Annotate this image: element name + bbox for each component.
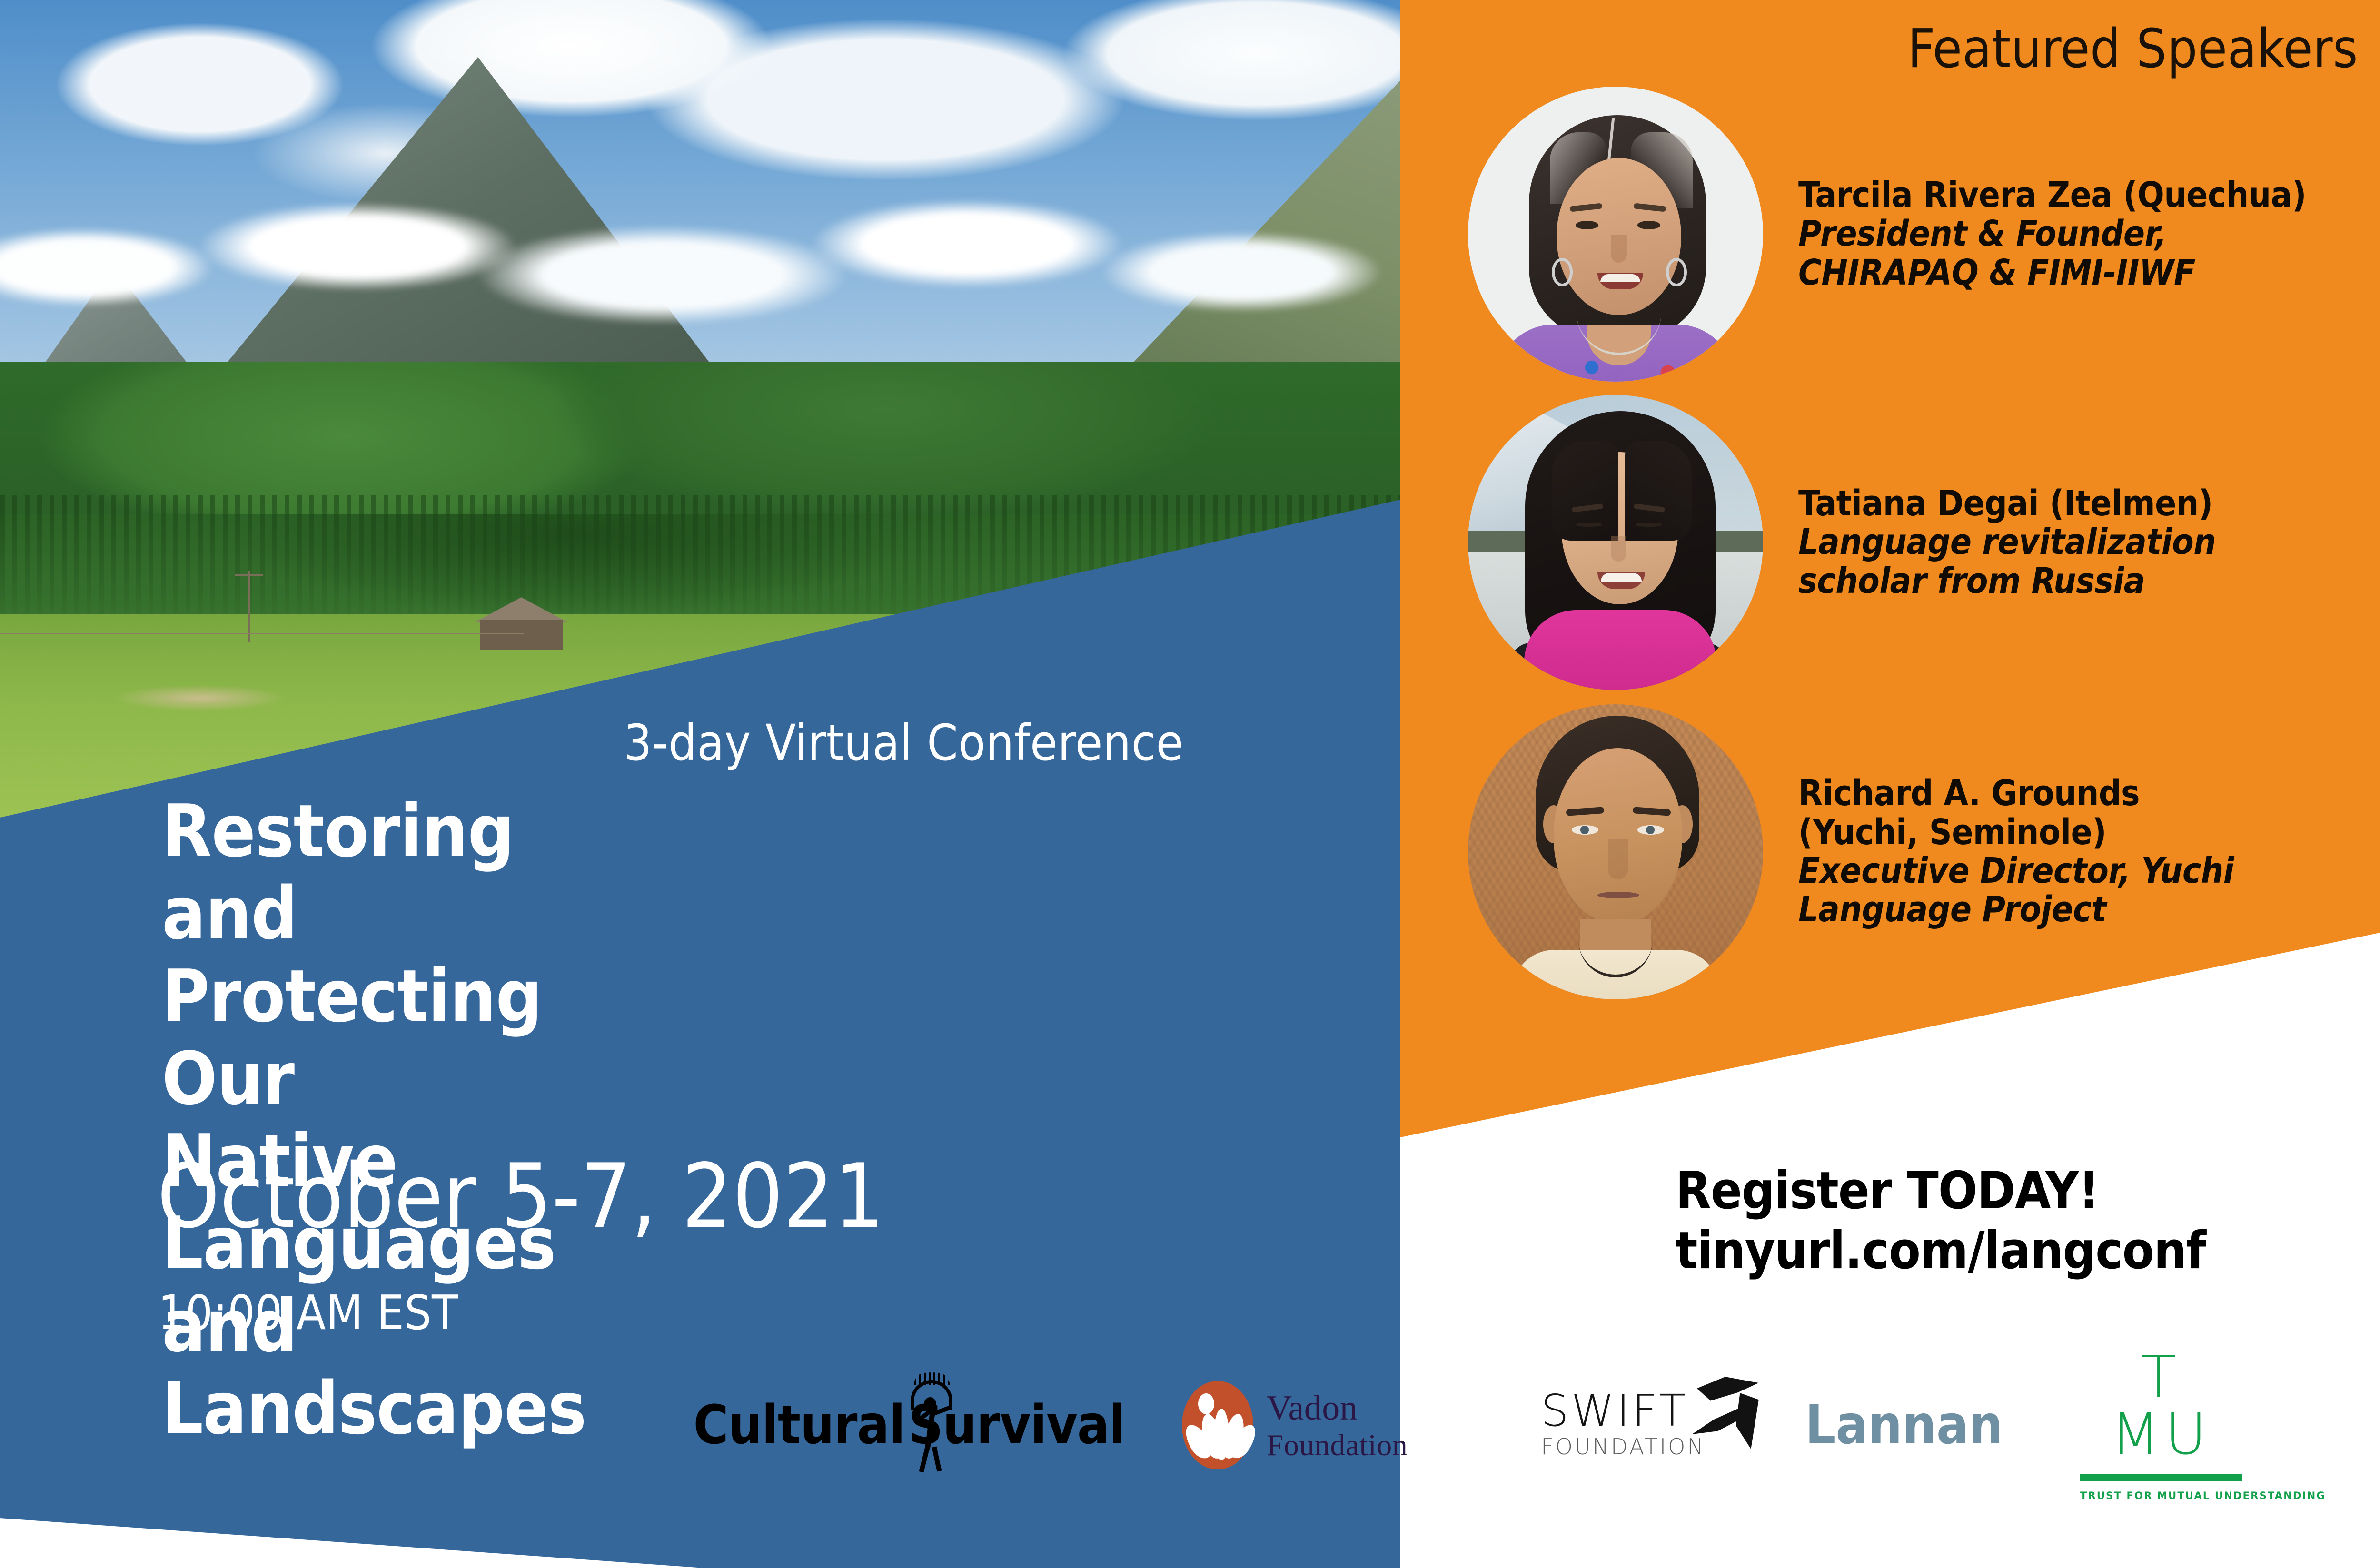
logo-cultural-survival: Cultural Survival xyxy=(704,1363,1114,1487)
register-url[interactable]: tinyurl.com/langconf xyxy=(1676,1221,2206,1281)
speaker-info: Tarcila Rivera Zea (Quechua) President &… xyxy=(1798,176,2325,292)
nose xyxy=(1611,235,1627,263)
register-headline: Register TODAY! xyxy=(1676,1161,2206,1221)
mouth xyxy=(1597,892,1639,898)
eye-left xyxy=(1576,523,1602,527)
bird-body xyxy=(1736,1393,1759,1449)
swift-bird-icon xyxy=(1692,1377,1764,1458)
speaker-name: Tatiana Degai (Itelmen) xyxy=(1798,484,2216,523)
speaker-info: Richard A. Grounds (Yuchi, Seminole) Exe… xyxy=(1798,774,2253,929)
cabin-body xyxy=(480,620,563,650)
teeth xyxy=(1600,274,1640,282)
speaker-row: Tatiana Degai (Itelmen) Language revital… xyxy=(1400,395,2380,690)
conference-poster: 3-day Virtual Conference Restoring and P… xyxy=(0,0,2380,1568)
swift-line-2: FOUNDATION xyxy=(1541,1433,1706,1461)
logo-lannan: Lannan xyxy=(1771,1363,2037,1487)
title-line-1: Restoring and Protecting xyxy=(162,790,428,1037)
lotus-oval-icon xyxy=(1182,1381,1253,1469)
cloud-band xyxy=(0,181,1428,338)
page-title: Restoring and Protecting Our Native Lang… xyxy=(162,790,1352,1450)
wooden-cabin xyxy=(466,597,576,650)
hoop-earring-right xyxy=(1666,258,1687,286)
conference-date: October 5-7, 2021 xyxy=(157,1144,884,1248)
eye-right xyxy=(1636,523,1662,527)
sponsor-logo-bar: Cultural Survival xyxy=(704,1354,2342,1497)
speaker-name: Tarcila Rivera Zea (Quechua) xyxy=(1798,176,2306,215)
logo-vadon-foundation: Vadon Foundation xyxy=(1114,1363,1476,1487)
eye-left xyxy=(1572,825,1598,835)
speaker-row: Richard A. Grounds (Yuchi, Seminole) Exe… xyxy=(1400,704,2380,999)
speaker-role-line: Executive Director, Yuchi xyxy=(1798,852,2234,890)
utility-pole xyxy=(248,571,250,642)
logo-tmu: T MU TRUST FOR MUTUAL UNDERSTANDING xyxy=(2037,1363,2285,1487)
tmu-tagline: TRUST FOR MUTUAL UNDERSTANDING xyxy=(2080,1490,2242,1501)
fence-line xyxy=(0,633,524,634)
swift-line-1: SWIFT xyxy=(1541,1389,1706,1433)
vadon-wordmark: Vadon Foundation xyxy=(1267,1389,1408,1462)
speaker-photo-richard-a-grounds xyxy=(1468,704,1763,999)
speaker-name: Richard A. Grounds xyxy=(1798,774,2234,813)
tmu-rule xyxy=(2080,1474,2242,1481)
speaker-role-line: Language revitalization xyxy=(1798,523,2216,562)
swift-wordmark: SWIFT FOUNDATION xyxy=(1541,1389,1706,1461)
nose xyxy=(1608,839,1628,879)
speaker-role-line: Language Project xyxy=(1798,890,2234,929)
speaker-role-line: scholar from Russia xyxy=(1798,562,2216,601)
tmu-mark: T MU TRUST FOR MUTUAL UNDERSTANDING xyxy=(2080,1349,2242,1501)
speaker-affiliation: (Yuchi, Seminole) xyxy=(1798,813,2234,852)
eye-right xyxy=(1637,825,1664,835)
teeth xyxy=(1601,573,1642,582)
speaker-role-line: CHIRAPAQ & FIMI-IIWF xyxy=(1798,254,2306,292)
nose xyxy=(1611,536,1626,562)
lannan-wordmark: Lannan xyxy=(1805,1399,2003,1452)
conference-kicker: 3-day Virtual Conference xyxy=(624,714,1184,772)
cabin-roof xyxy=(466,597,576,622)
lotus-dot xyxy=(1198,1393,1214,1414)
vadon-line-1: Vadon xyxy=(1267,1389,1408,1428)
speaker-role-line: President & Founder, xyxy=(1798,215,2306,253)
orange-speakers-panel: Featured Speakers xyxy=(1400,0,2380,1137)
eye-left xyxy=(1576,221,1598,229)
pink-scarf xyxy=(1524,610,1716,690)
vadon-line-2: Foundation xyxy=(1267,1428,1408,1462)
eye-right xyxy=(1637,221,1660,229)
speaker-info: Tatiana Degai (Itelmen) Language revital… xyxy=(1798,484,2235,601)
tmu-wordmark: T MU xyxy=(2080,1349,2242,1463)
hoop-earring-left xyxy=(1552,258,1573,286)
register-callout[interactable]: Register TODAY! tinyurl.com/langconf xyxy=(1676,1161,2206,1282)
conference-time: 10:00 AM EST xyxy=(158,1285,458,1341)
cultural-survival-word-1: Cultural xyxy=(694,1399,905,1452)
speaker-photo-tatiana-degai xyxy=(1468,395,1763,690)
speaker-photo-tarcila-rivera-zea xyxy=(1468,87,1763,382)
logo-swift-foundation: SWIFT FOUNDATION xyxy=(1476,1363,1771,1487)
featured-speakers-heading: Featured Speakers xyxy=(1400,0,2380,80)
speaker-row: Tarcila Rivera Zea (Quechua) President &… xyxy=(1400,87,2380,382)
